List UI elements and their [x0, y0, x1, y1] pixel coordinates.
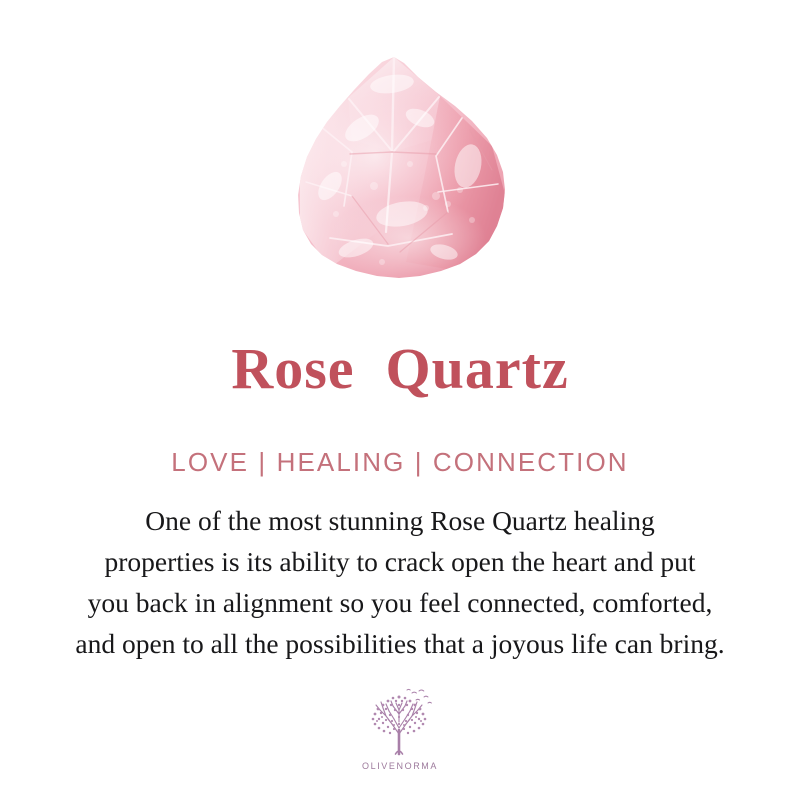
keywords-subtitle: LOVE | HEALING | CONNECTION [0, 447, 800, 477]
description-line: you back in alignment so you feel connec… [24, 582, 776, 623]
rose-quartz-crystal-image [0, 0, 800, 300]
product-info-card: Rose Quartz LOVE | HEALING | CONNECTION … [0, 0, 800, 800]
description-text: One of the most stunning Rose Quartz hea… [24, 500, 776, 664]
page-title: Rose Quartz [0, 336, 800, 402]
description-line: properties is its ability to crack open … [24, 541, 776, 582]
brand-name: OLIVENORMA [350, 761, 450, 771]
description-line: One of the most stunning Rose Quartz hea… [24, 500, 776, 541]
brand-logo: OLIVENORMA [350, 688, 450, 771]
description-line: and open to all the possibilities that a… [24, 623, 776, 664]
tree-of-life-icon [362, 688, 438, 758]
crystal-body [288, 40, 520, 300]
